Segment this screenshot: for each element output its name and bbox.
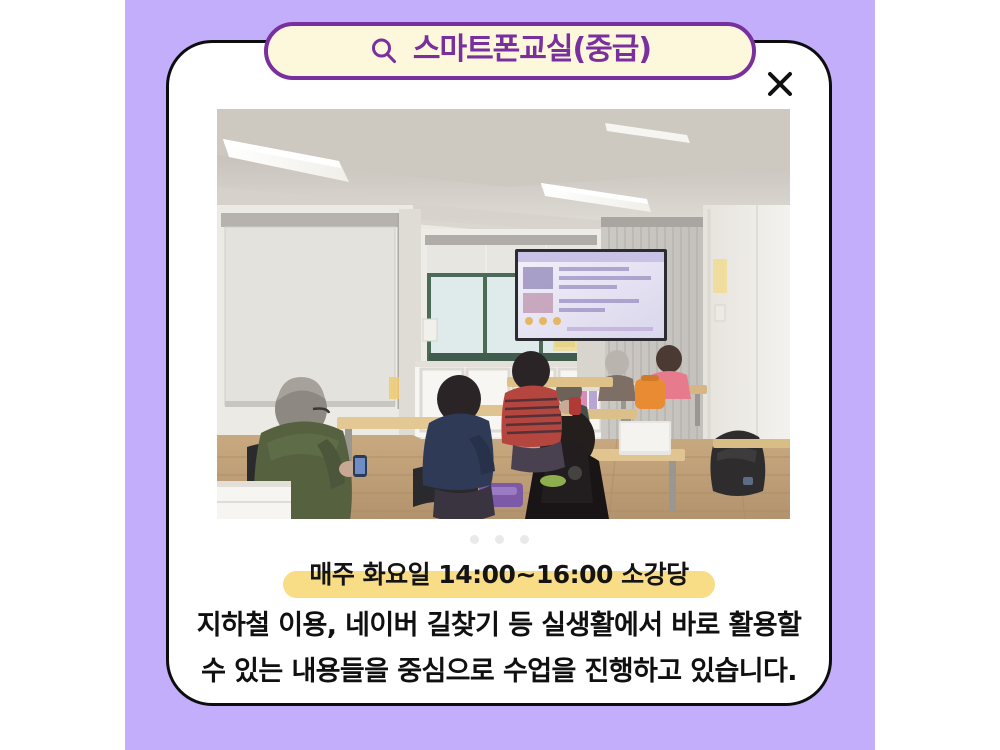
carousel-dot-3[interactable] [520, 535, 529, 544]
description-line-2: 수 있는 내용들을 중심으로 수업을 진행하고 있습니다. [187, 649, 811, 695]
info-card: 매주 화요일 14:00~16:00 소강당 지하철 이용, 네이버 길찾기 등… [166, 40, 832, 706]
description-line-1: 지하철 이용, 네이버 길찾기 등 실생활에서 바로 활용할 [187, 603, 811, 649]
title-pill: 스마트폰교실(중급) [264, 22, 756, 80]
class-photo-illustration [217, 109, 790, 519]
schedule-text: 매주 화요일 14:00~16:00 소강당 [309, 560, 688, 589]
carousel-dots[interactable] [169, 535, 829, 544]
close-icon[interactable] [762, 66, 798, 102]
page-title: 스마트폰교실(중급) [413, 35, 651, 65]
page-root: 매주 화요일 14:00~16:00 소강당 지하철 이용, 네이버 길찾기 등… [0, 0, 1000, 750]
class-photo [217, 109, 790, 519]
description-block: 지하철 이용, 네이버 길찾기 등 실생활에서 바로 활용할 수 있는 내용들을… [187, 603, 811, 696]
schedule-highlight: 매주 화요일 14:00~16:00 소강당 [283, 558, 714, 594]
carousel-dot-1[interactable] [470, 535, 479, 544]
search-icon [369, 36, 399, 66]
carousel-dot-2[interactable] [495, 535, 504, 544]
schedule-row: 매주 화요일 14:00~16:00 소강당 [169, 555, 829, 597]
